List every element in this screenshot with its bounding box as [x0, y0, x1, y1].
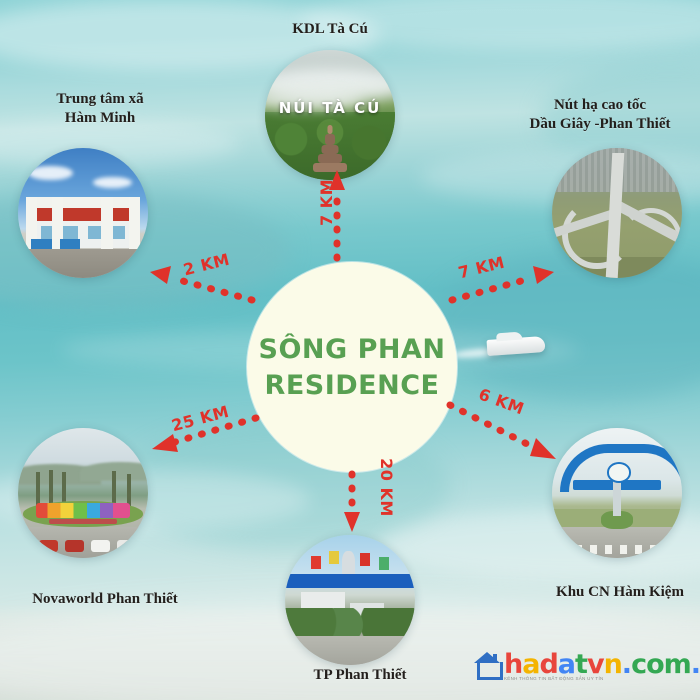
- infographic-canvas: NÚI TÀ CÚ KDL Tà Cú Trung tâm xã Hàm Mi: [0, 0, 700, 700]
- arrow-to-khu-cn-ham-kiem: [450, 405, 556, 459]
- house-logo-icon: [474, 650, 500, 678]
- watermark-tagline: KÊNH THÔNG TIN BẤT ĐỘNG SẢN UY TÍN: [504, 676, 604, 681]
- wm-part-4: .: [691, 649, 700, 680]
- distance-label-ta-cu: 7 KM: [317, 179, 336, 226]
- wm-part-1: hadatvn: [504, 649, 622, 680]
- watermark: hadatvn.com.vn KÊNH THÔNG TIN BẤT ĐỘNG S…: [474, 650, 700, 678]
- arrow-to-tp-phan-thiet: [344, 474, 360, 532]
- wm-part-2: .: [622, 649, 631, 680]
- watermark-text: hadatvn.com.vn: [504, 651, 700, 678]
- distance-label-phan-thiet: 20 KM: [377, 458, 396, 517]
- wm-part-3: com: [631, 649, 691, 680]
- arrow-layer: [0, 0, 700, 700]
